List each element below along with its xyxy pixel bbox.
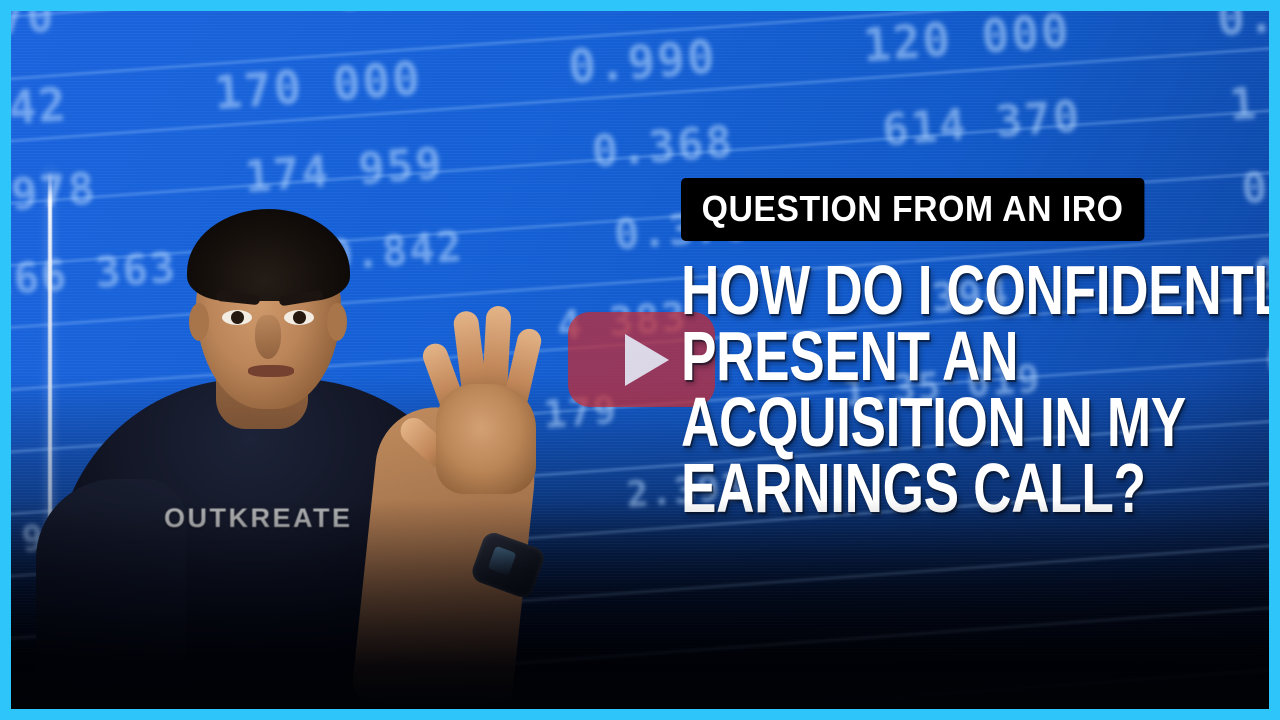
subject-presenter: OUTKREATE — [36, 109, 576, 709]
ear-right — [327, 303, 347, 341]
headline: HOW DO I CONFIDENTLY PRESENT AN ACQUISIT… — [681, 257, 1260, 521]
shirt-logo-text: OUTKREATE — [164, 503, 353, 534]
play-triangle-icon — [625, 334, 669, 386]
headline-line-3: ACQUISITION IN MY — [681, 389, 1260, 455]
palm — [436, 384, 536, 494]
eye-right — [284, 310, 314, 325]
nose — [255, 315, 281, 359]
headline-line-2: PRESENT AN — [681, 323, 1260, 389]
thumbnail-canvas: 0.370 33.218 0.388 3.859 0.642 170 000 0… — [11, 11, 1269, 709]
mouth — [248, 365, 294, 377]
ear-left — [189, 303, 209, 341]
hand — [414, 319, 564, 494]
eyebrow-badge: QUESTION FROM AN IRO — [681, 178, 1144, 241]
video-thumbnail: 0.370 33.218 0.388 3.859 0.642 170 000 0… — [0, 0, 1280, 720]
text-block: QUESTION FROM AN IRO HOW DO I CONFIDENTL… — [681, 178, 1261, 521]
headline-line-1: HOW DO I CONFIDENTLY — [681, 257, 1260, 323]
headline-line-4: EARNINGS CALL? — [681, 455, 1260, 521]
hair — [187, 209, 350, 301]
eye-left — [222, 310, 252, 325]
